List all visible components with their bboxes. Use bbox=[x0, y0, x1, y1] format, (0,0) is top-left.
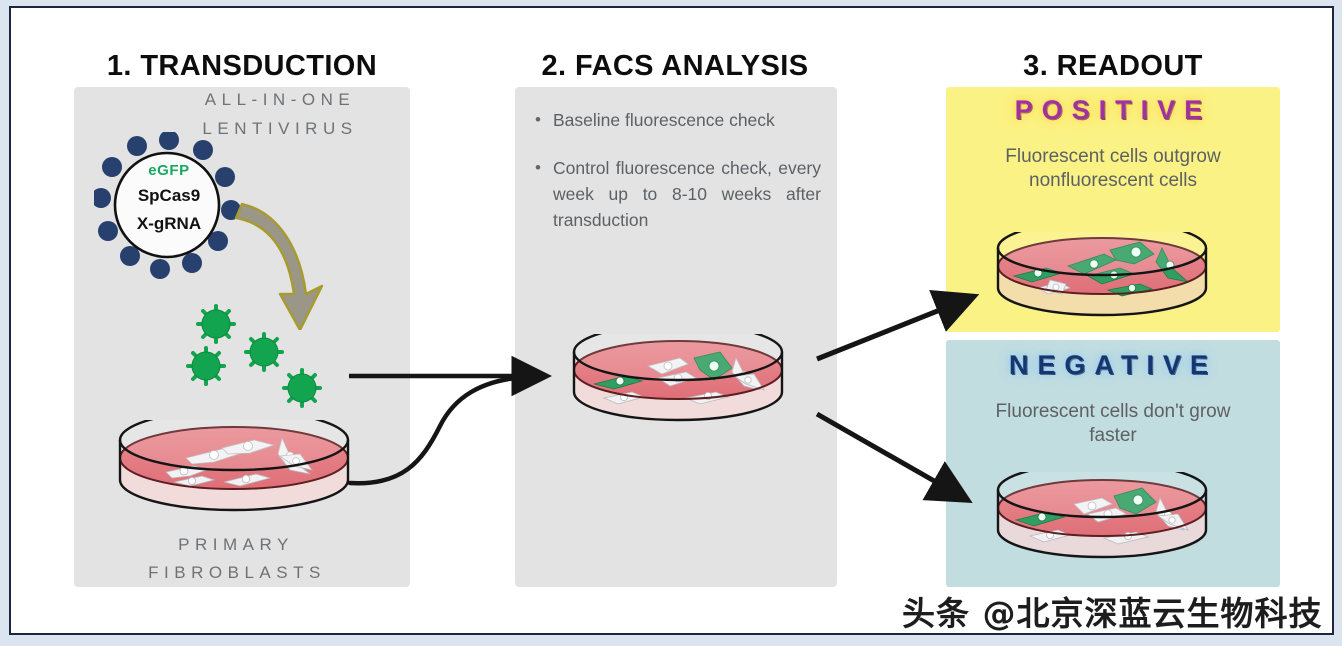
readout-label-positive: POSITIVE bbox=[946, 95, 1280, 126]
virus-particle-1 bbox=[198, 306, 234, 342]
readout-caption-positive: Fluorescent cells outgrow nonfluorescent… bbox=[946, 145, 1280, 193]
petri-dish-facs bbox=[568, 334, 788, 438]
free-virus-particles-group bbox=[180, 300, 340, 420]
readout-caption-negative-line2: faster bbox=[946, 424, 1280, 448]
label-all-in-one: ALL-IN-ONE bbox=[150, 90, 410, 110]
readout-caption-negative-line1: Fluorescent cells don't grow bbox=[946, 400, 1280, 424]
lentivirus-particle-diagram: eGFP SpCas9 X-gRNA bbox=[94, 132, 244, 282]
virus-particle-2 bbox=[188, 348, 224, 384]
readout-label-negative: NEGATIVE bbox=[946, 350, 1280, 381]
readout-caption-positive-line1: Fluorescent cells outgrow bbox=[946, 145, 1280, 169]
virus-particle-3 bbox=[246, 334, 282, 370]
panel-title-facs: 2. FACS ANALYSIS bbox=[514, 50, 836, 83]
bullet-text-control: Control fluorescence check, every week u… bbox=[553, 155, 821, 233]
facs-bullet-list: • Baseline fluorescence check • Control … bbox=[535, 107, 835, 255]
arrow-facs-to-negative bbox=[817, 414, 964, 498]
watermark-text: 头条 @北京深蓝云生物科技 bbox=[902, 587, 1323, 635]
virion-cargo-spcas9: SpCas9 bbox=[94, 186, 244, 206]
bullet-marker-icon: • bbox=[535, 155, 553, 233]
panel-title-transduction: 1. TRANSDUCTION bbox=[62, 50, 422, 83]
bullet-marker-icon: • bbox=[535, 107, 553, 133]
figure-root: 1. TRANSDUCTION 2. FACS ANALYSIS 3. READ… bbox=[0, 0, 1342, 646]
bullet-item: • Baseline fluorescence check bbox=[535, 107, 835, 133]
virus-particle-4 bbox=[284, 370, 320, 406]
readout-caption-positive-line2: nonfluorescent cells bbox=[946, 169, 1280, 193]
figure-card: 1. TRANSDUCTION 2. FACS ANALYSIS 3. READ… bbox=[9, 6, 1334, 635]
virion-cargo-egfp: eGFP bbox=[94, 162, 244, 179]
panel-title-readout: 3. READOUT bbox=[946, 50, 1280, 83]
petri-dish-fibroblasts bbox=[114, 420, 354, 530]
bullet-text-baseline: Baseline fluorescence check bbox=[553, 107, 821, 133]
bullet-item: • Control fluorescence check, every week… bbox=[535, 155, 835, 233]
petri-dish-negative bbox=[992, 472, 1212, 576]
virion-cargo-xgrna: X-gRNA bbox=[94, 214, 244, 234]
figure-canvas: 1. TRANSDUCTION 2. FACS ANALYSIS 3. READ… bbox=[9, 6, 1334, 635]
label-fibroblasts: FIBROBLASTS bbox=[72, 563, 402, 583]
label-primary: PRIMARY bbox=[86, 535, 386, 555]
readout-caption-negative: Fluorescent cells don't grow faster bbox=[946, 400, 1280, 448]
petri-dish-positive bbox=[992, 232, 1212, 332]
virion-icon bbox=[94, 132, 244, 282]
